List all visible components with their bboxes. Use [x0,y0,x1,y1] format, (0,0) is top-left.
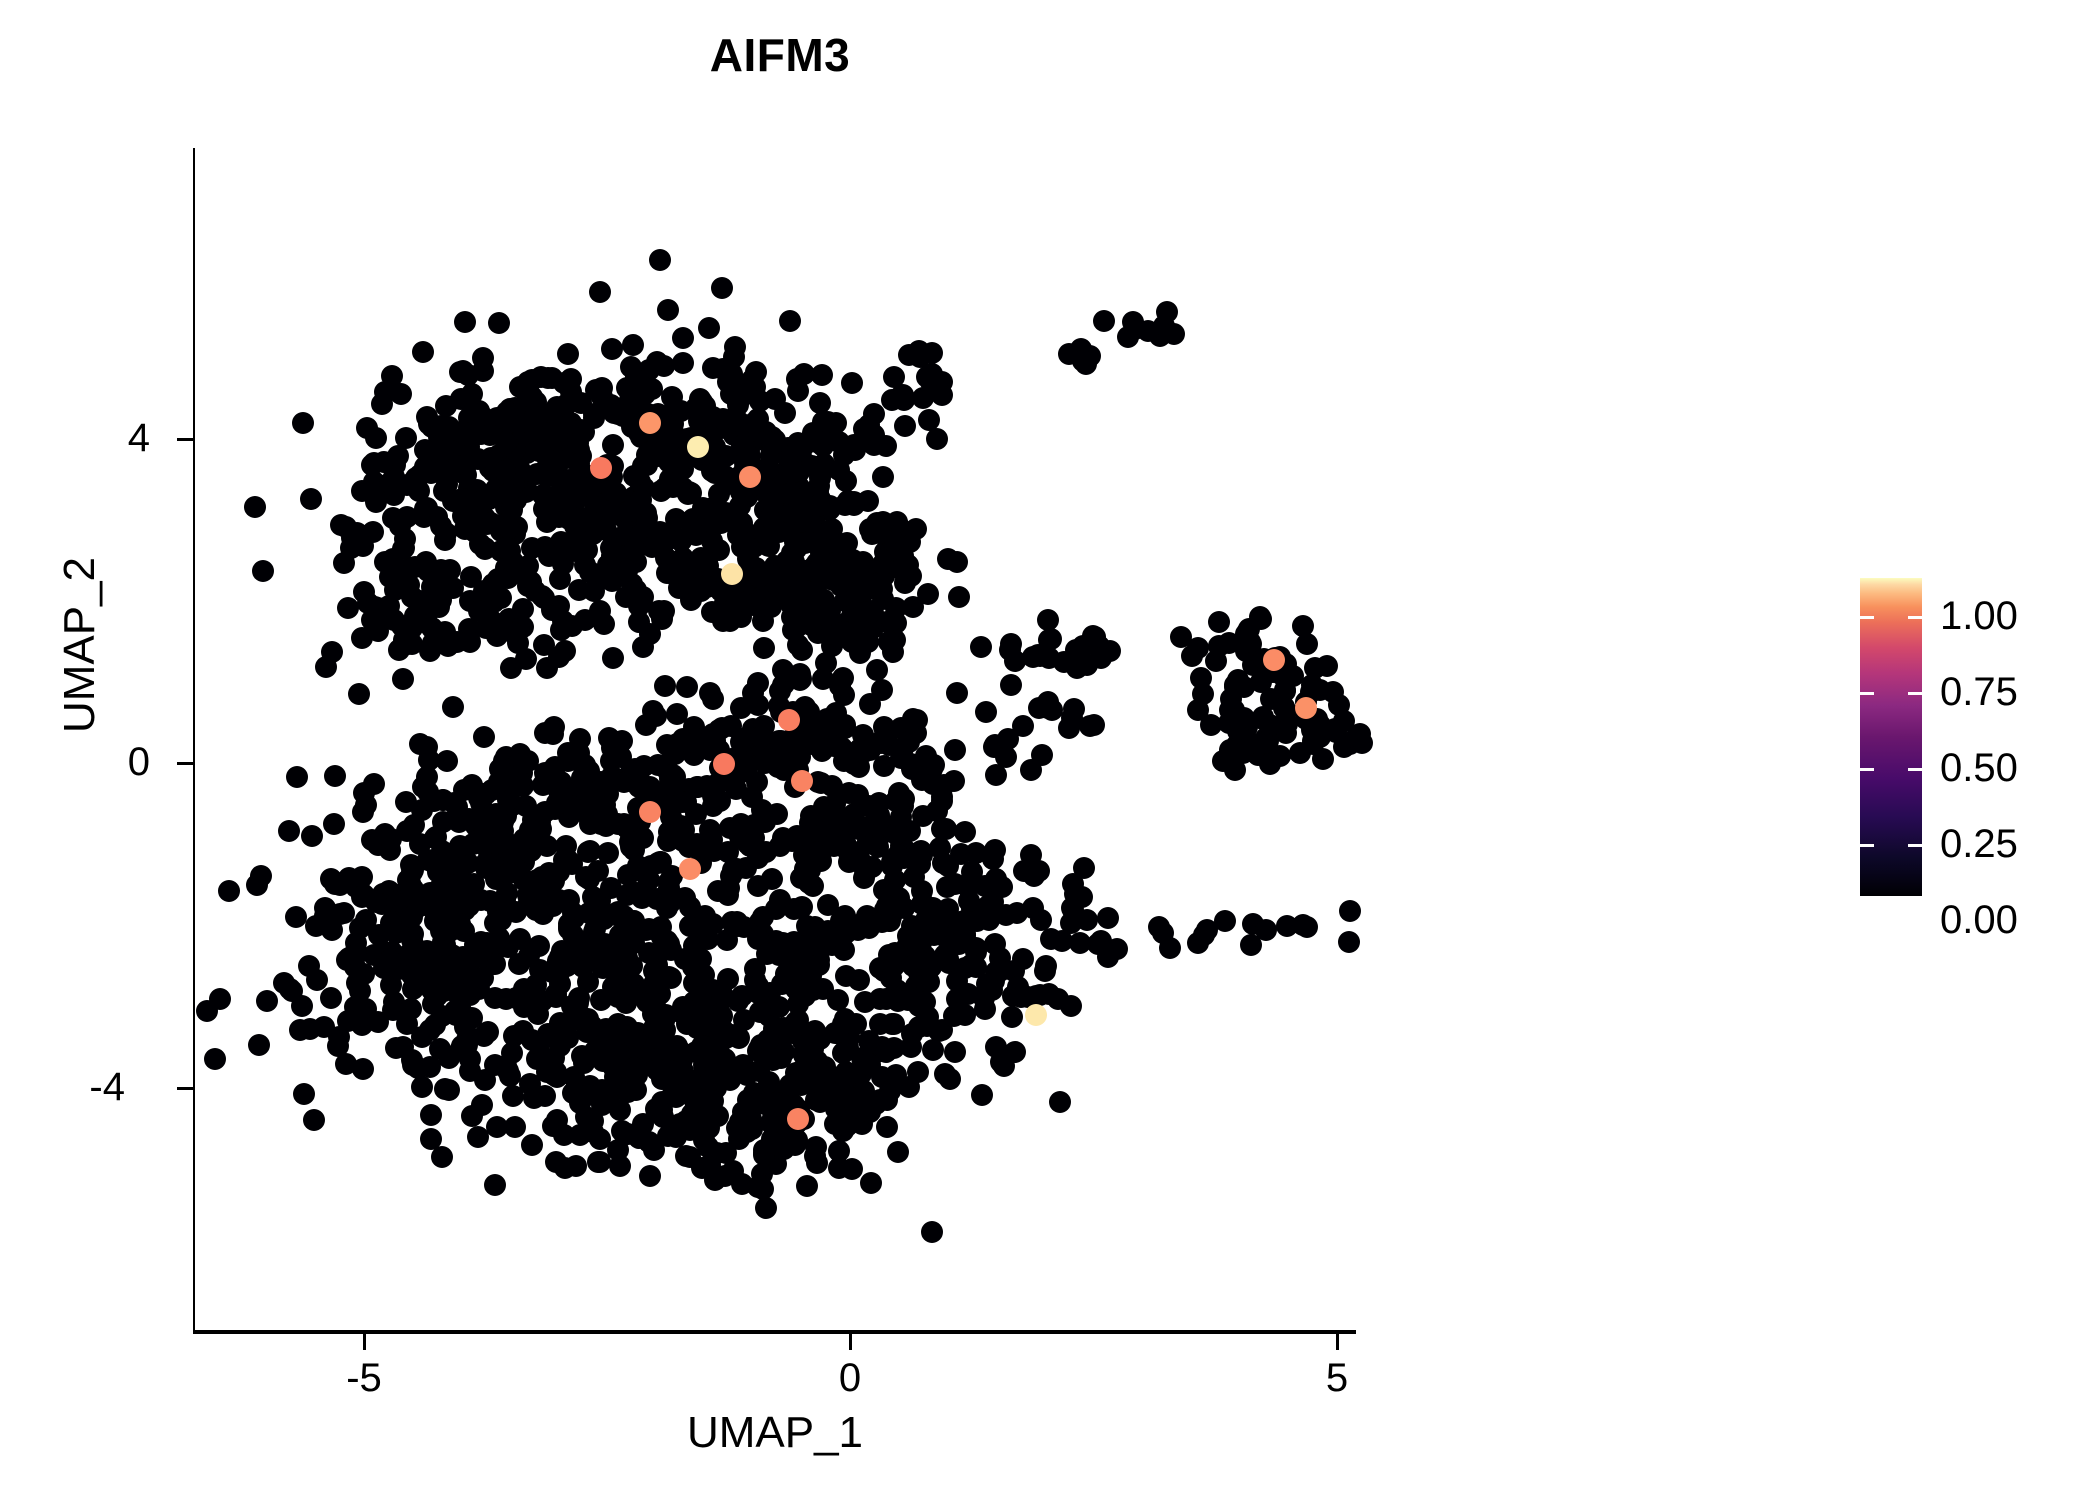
scatter-point [861,600,883,622]
scatter-point [817,894,839,916]
scatter-point [461,505,483,527]
scatter-point [1181,645,1203,667]
scatter-point [876,1089,898,1111]
scatter-point [787,432,809,454]
y-tick-mark-minus4 [177,1087,193,1090]
scatter-point [873,755,895,777]
scatter-point [971,1084,993,1106]
scatter-point [758,1071,780,1093]
scatter-point [727,915,749,937]
scatter-point [794,985,816,1007]
scatter-point [292,412,314,434]
scatter-point [624,539,646,561]
scatter-point [647,852,669,874]
scatter-point [528,440,550,462]
scatter-point [387,445,409,467]
scatter-point [632,636,654,658]
scatter-point [574,507,596,529]
scatter-point [698,1107,720,1129]
scatter-point [656,734,678,756]
scatter-point [651,608,673,630]
scatter-point [868,522,890,544]
scatter-point [670,530,692,552]
y-tick-mark-4 [177,438,193,441]
scatter-point [717,841,739,863]
scatter-point [622,334,644,356]
scatter-point [706,1142,728,1164]
colorbar-label-0: 0.00 [1940,900,2018,940]
scatter-point [421,594,443,616]
scatter-point [872,466,894,488]
scatter-point [321,919,343,941]
scatter-point [598,727,620,749]
scatter-point [567,432,589,454]
scatter-point [432,564,454,586]
colorbar-label-075: 0.75 [1940,672,2018,712]
scatter-point [321,641,343,663]
scatter-point [835,965,857,987]
scatter-point [578,760,600,782]
scatter-point [670,400,692,422]
scatter-point [944,739,966,761]
x-axis-title: UMAP_1 [195,1408,1355,1458]
scatter-point [683,946,705,968]
scatter-point [760,596,782,618]
scatter-point [246,874,268,896]
scatter-point-highlighted [639,412,661,434]
scatter-point [868,572,890,594]
scatter-point [557,849,579,871]
scatter-point [811,364,833,386]
plot-panel [195,148,1355,1330]
scatter-point [1316,655,1338,677]
scatter-point [521,1134,543,1156]
scatter-point [289,1019,311,1041]
scatter-point [649,249,671,271]
scatter-point [912,892,934,914]
scatter-point [565,1155,587,1177]
scatter-point [970,636,992,658]
scatter-point [1338,931,1360,953]
scatter-point [595,519,617,541]
scatter-point [755,1197,777,1219]
scatter-point [541,367,563,389]
scatter-point [711,277,733,299]
scatter-point [432,460,454,482]
scatter-point [1348,726,1370,748]
scatter-point [434,1078,456,1100]
scatter-point [1170,626,1192,648]
scatter-point [939,1068,961,1090]
scatter-point [605,1043,627,1065]
scatter-point [436,750,458,772]
scatter-point [721,1024,743,1046]
scatter-point [486,1116,508,1138]
scatter-point [1040,928,1062,950]
scatter-point [698,1038,720,1060]
scatter-point [346,522,368,544]
scatter-point [602,434,624,456]
scatter-point [403,814,425,836]
scatter-point [753,637,775,659]
scatter-point [303,1109,325,1131]
scatter-point [654,675,676,697]
scatter-point [894,415,916,437]
scatter-point [548,889,570,911]
scatter-point [348,683,370,705]
scatter-point [1031,744,1053,766]
scatter-point [712,610,734,632]
scatter-point [719,1069,741,1091]
scatter-point [900,1036,922,1058]
scatter-point [337,1010,359,1032]
scatter-point [324,765,346,787]
scatter-point [351,866,373,888]
scatter-point [484,1174,506,1196]
scatter-point [352,801,374,823]
scatter-point [936,876,958,898]
scatter-point [459,631,481,653]
scatter-point [476,932,498,954]
umap-feature-plot: AIFM3 4 0 -4 -5 0 5 UMAP_1 UMAP_2 1.00 0… [0,0,2100,1500]
scatter-point [954,821,976,843]
scatter-point [425,905,447,927]
scatter-point [796,1175,818,1197]
scatter-point [485,803,507,825]
scatter-point [981,979,1003,1001]
x-tick-label-minus5: -5 [304,1358,424,1398]
scatter-point [860,1172,882,1194]
scatter-point [907,1061,929,1083]
scatter-point [672,830,694,852]
scatter-point [974,998,996,1020]
scatter-point [577,1120,599,1142]
scatter-point [576,539,598,561]
scatter-point [602,647,624,669]
scatter-point [421,617,443,639]
scatter-point [1069,932,1091,954]
scatter-point [542,723,564,745]
scatter-point [627,855,649,877]
scatter-point [471,1094,493,1116]
scatter-point [647,528,669,550]
scatter-point [786,368,808,390]
scatter-point [1053,651,1075,673]
scatter-point [815,652,837,674]
scatter-point [455,454,477,476]
scatter-point [730,813,752,835]
scatter-point [204,1048,226,1070]
scatter-point [823,804,845,826]
scatter-point [975,701,997,723]
scatter-point [442,696,464,718]
scatter-point [337,597,359,619]
scatter-point [720,865,742,887]
scatter-point [638,1131,660,1153]
scatter-point [549,946,571,968]
scatter-point [937,948,959,970]
scatter-point [789,669,811,691]
scatter-point [985,868,1007,890]
scatter-point [402,859,424,881]
scatter-point [402,1054,424,1076]
scatter-point [639,1165,661,1187]
scatter-point [917,583,939,605]
scatter-point [248,1034,270,1056]
scatter-point [554,640,576,662]
scatter-point [549,1035,571,1057]
page-title: AIFM3 [0,28,1560,82]
x-tick-label-0: 0 [790,1358,910,1398]
scatter-point [463,873,485,895]
scatter-point-highlighted [679,858,701,880]
scatter-point [557,343,579,365]
scatter-point [866,659,888,681]
scatter-point [529,877,551,899]
scatter-point [553,1124,575,1146]
scatter-points-layer [195,148,1355,1330]
scatter-point [218,880,240,902]
scatter-point-highlighted [1025,1004,1047,1026]
scatter-point [661,774,683,796]
scatter-point [676,676,698,698]
scatter-point [1339,900,1361,922]
scatter-point [786,825,808,847]
scatter-point [402,978,424,1000]
scatter-point [323,813,345,835]
scatter-point [1084,626,1106,648]
scatter-point-highlighted [778,709,800,731]
scatter-point [371,393,393,415]
scatter-point [871,679,893,701]
scatter-point [597,842,619,864]
scatter-point [805,1136,827,1158]
scatter-point [760,1112,782,1134]
scatter-point [607,1139,629,1161]
scatter-point [1214,910,1236,932]
scatter-point [948,586,970,608]
scatter-point [472,360,494,382]
scatter-point [946,551,968,573]
scatter-point [891,558,913,580]
x-axis-line [193,1330,1356,1334]
scatter-point [642,992,664,1014]
scatter-point [1309,714,1331,736]
scatter-point [789,746,811,768]
scatter-point [815,604,837,626]
scatter-point [898,731,920,753]
scatter-point [430,515,452,537]
scatter-point [1090,647,1112,669]
scatter-point [431,1146,453,1168]
colorbar-tick-1-left [1860,616,1874,619]
scatter-point [472,967,494,989]
scatter-point [658,795,680,817]
scatter-point [662,1083,684,1105]
scatter-point [960,954,982,976]
scatter-point [690,916,712,938]
scatter-point [853,867,875,889]
scatter-point [587,937,609,959]
scatter-point [473,726,495,748]
scatter-point [836,1115,858,1137]
scatter-point [755,841,777,863]
scatter-point [762,1132,784,1154]
colorbar-gradient [1860,578,1922,896]
scatter-point [853,912,875,934]
scatter-point [926,428,948,450]
scatter-point [374,823,396,845]
scatter-point [444,1000,466,1022]
scatter-point [1255,919,1277,941]
scatter-point [482,573,504,595]
scatter-point [885,597,907,619]
scatter-point [601,338,623,360]
scatter-point [623,1057,645,1079]
scatter-point [320,987,342,1009]
scatter-point [488,312,510,334]
scatter-point [658,933,680,955]
scatter-point [641,378,663,400]
scatter-point [588,795,610,817]
scatter-point [424,827,446,849]
scatter-point-highlighted [721,563,743,585]
scatter-point [432,439,454,461]
scatter-point [625,1079,647,1101]
scatter-point [816,708,838,730]
scatter-point [702,688,724,710]
scatter-point [921,342,943,364]
scatter-point [686,1015,708,1037]
scatter-point [672,352,694,374]
scatter-point [711,983,733,1005]
scatter-point [914,991,936,1013]
scatter-point [857,1053,879,1075]
scatter-point [252,560,274,582]
scatter-point [809,392,831,414]
scatter-point [568,453,590,475]
scatter-point [657,299,679,321]
scatter-point [1099,940,1121,962]
scatter-point [1001,1006,1023,1028]
scatter-point [480,609,502,631]
scatter-point [589,281,611,303]
scatter-point [774,402,796,424]
scatter-point [1235,623,1257,645]
y-axis-title: UMAP_2 [55,365,105,925]
scatter-point [825,412,847,434]
scatter-point [741,786,763,808]
scatter-point [875,988,897,1010]
scatter-point [911,844,933,866]
scatter-point-highlighted [713,753,735,775]
scatter-point [300,488,322,510]
scatter-point [902,708,924,730]
scatter-point [401,906,423,928]
scatter-point [1037,609,1059,631]
scatter-point [731,512,753,534]
scatter-point [196,1000,218,1022]
scatter-point [698,317,720,339]
scatter-point [298,955,320,977]
scatter-point [437,635,459,657]
scatter-point [589,600,611,622]
scatter-point [747,982,769,1004]
scatter-point [512,775,534,797]
scatter-point [515,648,537,670]
scatter-point [1028,860,1050,882]
scatter-point [513,752,535,774]
scatter-point [625,579,647,601]
scatter-point [878,631,900,653]
legend-colorbar: 1.00 0.75 0.50 0.25 0.00 [1860,578,1922,896]
scatter-point [931,384,953,406]
colorbar-tick-1-right [1908,616,1922,619]
scatter-point [779,310,801,332]
scatter-point [997,728,1019,750]
scatter-point [880,967,902,989]
scatter-point [563,798,585,820]
scatter-point [278,820,300,842]
scatter-point [467,1126,489,1148]
scatter-point [244,496,266,518]
scatter-point [453,779,475,801]
scatter-point [494,460,516,482]
scatter-point [577,1084,599,1106]
scatter-point [392,668,414,690]
scatter-point [345,944,367,966]
colorbar-label-1: 1.00 [1940,596,2018,636]
scatter-point [495,537,517,559]
scatter-point [669,1040,691,1062]
scatter-point [876,1116,898,1138]
scatter-point [1152,922,1174,944]
scatter-point [944,1041,966,1063]
scatter-point [420,1104,442,1126]
scatter-point [1097,907,1119,929]
scatter-point [768,521,790,543]
scatter-point [790,1060,812,1082]
scatter-point [494,889,516,911]
scatter-point [730,697,752,719]
scatter-point [611,1120,633,1142]
scatter-point [564,741,586,763]
scatter-point [1292,914,1314,936]
colorbar-tick-025-left [1860,844,1874,847]
colorbar-label-025: 0.25 [1940,824,2018,864]
scatter-point [623,465,645,487]
scatter-point [946,988,968,1010]
scatter-point [365,427,387,449]
scatter-point [513,996,535,1018]
scatter-point [1122,311,1144,333]
scatter-point [824,552,846,574]
scatter-point [695,736,717,758]
scatter-point [833,1065,855,1087]
scatter-point [388,639,410,661]
scatter-point [1049,1091,1071,1113]
scatter-point [791,896,813,918]
y-tick-label-minus4: -4 [55,1067,125,1107]
scatter-point [841,372,863,394]
scatter-point [367,1011,389,1033]
x-tick-label-5: 5 [1277,1358,1397,1398]
scatter-point [286,766,308,788]
scatter-point [390,383,412,405]
scatter-point [1248,733,1270,755]
y-tick-mark-0 [177,762,193,765]
scatter-point [672,327,694,349]
